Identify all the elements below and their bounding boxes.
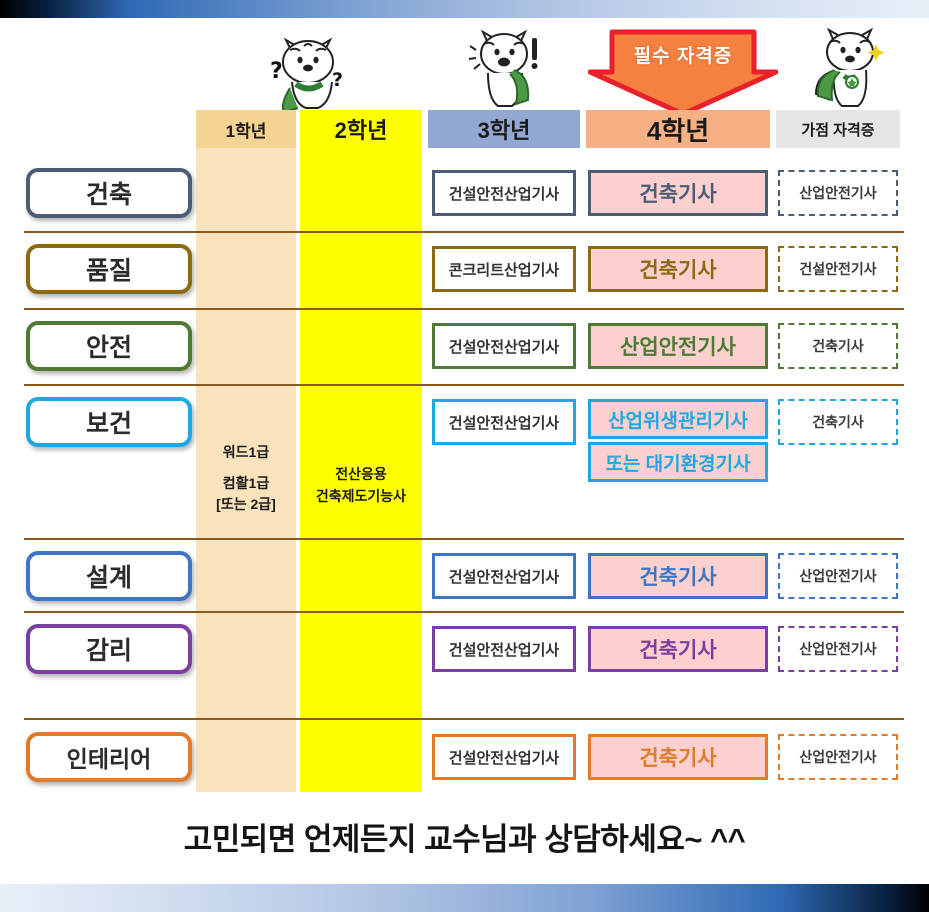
row-separator-2 [24,384,904,386]
track-label-6[interactable]: 인테리어 [26,732,192,782]
roadmap-grid: 1학년 2학년 3학년 4학년 가점 자격증 워드1급 컴활1급 [또는 2급]… [0,18,929,884]
year2-note: 전산응용 건축제도기능사 [300,464,422,507]
track-label-0[interactable]: 건축 [26,168,192,218]
year3-cell-6[interactable]: 건설안전산업기사 [432,734,576,780]
certification-roadmap-sheet: ? ? [0,18,929,884]
year3-cell-3[interactable]: 건설안전산업기사 [432,399,576,445]
advice-caption: 고민되면 언제든지 교수님과 상담하세요~ ^^ [0,814,929,859]
header-year4: 4학년 [586,110,770,148]
bonus-cell-2[interactable]: 건축기사 [778,323,898,369]
year4-cell-0-0[interactable]: 건축기사 [588,170,768,216]
track-label-5[interactable]: 감리 [26,624,192,674]
year4-cell-3-1[interactable]: 또는 대기환경기사 [588,442,768,482]
year1-note-line2: 컴활1급 [223,475,269,491]
bonus-cell-0[interactable]: 산업안전기사 [778,170,898,216]
year4-cell-5-0[interactable]: 건축기사 [588,626,768,672]
bottom-decorative-band [0,884,929,912]
bonus-cell-4[interactable]: 산업안전기사 [778,553,898,599]
row-separator-4 [24,611,904,613]
year3-cell-0[interactable]: 건설안전산업기사 [432,170,576,216]
header-bonus-certification: 가점 자격증 [776,110,900,148]
year4-cell-1-0[interactable]: 건축기사 [588,246,768,292]
header-year3: 3학년 [428,110,580,148]
bonus-cell-6[interactable]: 산업안전기사 [778,734,898,780]
header-year1: 1학년 [196,110,296,148]
row-separator-3 [24,538,904,540]
track-label-3[interactable]: 보건 [26,397,192,447]
top-decorative-band [0,0,929,18]
year2-note-line2: 건축제도기능사 [316,488,406,504]
year3-cell-2[interactable]: 건설안전산업기사 [432,323,576,369]
track-label-1[interactable]: 품질 [26,244,192,294]
year1-note: 워드1급 컴활1급 [또는 2급] [196,442,296,516]
year3-cell-4[interactable]: 건설안전산업기사 [432,553,576,599]
year3-cell-1[interactable]: 콘크리트산업기사 [432,246,576,292]
year1-note-line3: [또는 2급] [216,496,276,512]
row-separator-0 [24,231,904,233]
bonus-cell-1[interactable]: 건설안전기사 [778,246,898,292]
track-label-4[interactable]: 설계 [26,551,192,601]
bonus-cell-3[interactable]: 건축기사 [778,399,898,445]
year4-cell-3-0[interactable]: 산업위생관리기사 [588,399,768,439]
track-label-2[interactable]: 안전 [26,321,192,371]
row-separator-1 [24,308,904,310]
bonus-cell-5[interactable]: 산업안전기사 [778,626,898,672]
year4-cell-4-0[interactable]: 건축기사 [588,553,768,599]
year4-cell-2-0[interactable]: 산업안전기사 [588,323,768,369]
year4-cell-6-0[interactable]: 건축기사 [588,734,768,780]
year1-note-line1: 워드1급 [223,444,269,460]
year2-note-line1: 전산응용 [335,466,387,482]
row-separator-5 [24,718,904,720]
year3-cell-5[interactable]: 건설안전산업기사 [432,626,576,672]
header-year2: 2학년 [300,110,422,148]
